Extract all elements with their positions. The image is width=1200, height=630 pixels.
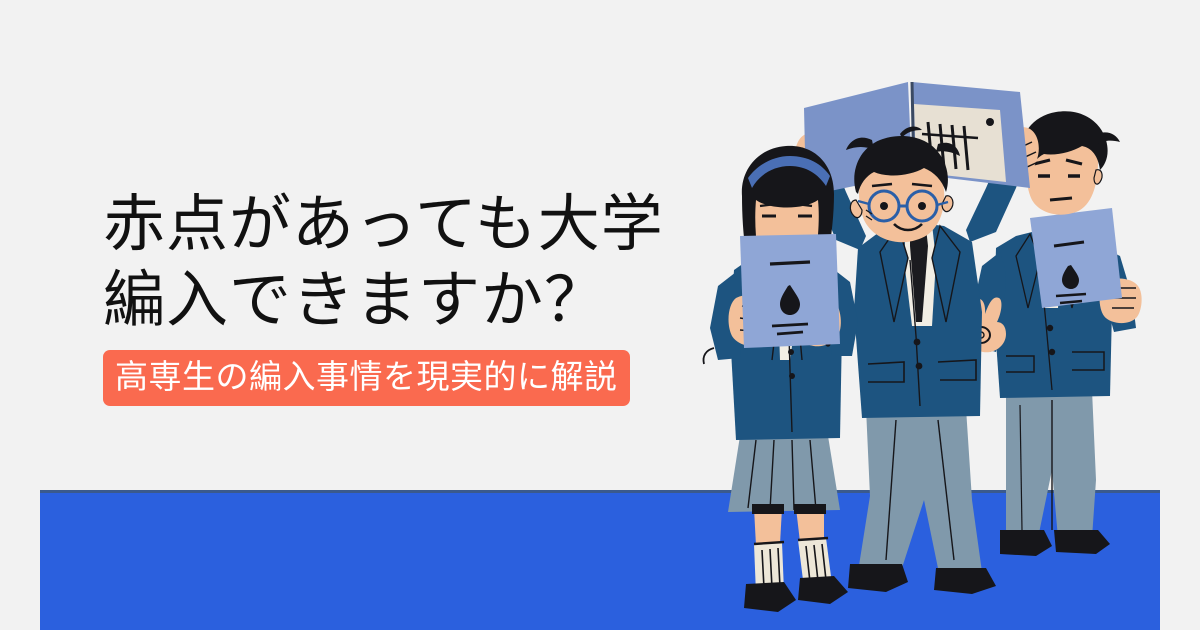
headline-line-1: 赤点があっても大学 bbox=[103, 186, 664, 262]
subtitle-wrapper: 高専生の編入事情を現実的に解説 bbox=[103, 350, 630, 406]
subtitle-banner: 高専生の編入事情を現実的に解説 bbox=[103, 350, 630, 406]
headline-block: 赤点があっても大学 編入できますか？ 高専生の編入事情を現実的に解説 bbox=[103, 186, 664, 406]
headline-line-2: 編入できますか？ bbox=[103, 262, 664, 338]
thumbnail-canvas: 赤点があっても大学 編入できますか？ 高専生の編入事情を現実的に解説 bbox=[0, 0, 1200, 630]
students-illustration bbox=[700, 60, 1170, 620]
